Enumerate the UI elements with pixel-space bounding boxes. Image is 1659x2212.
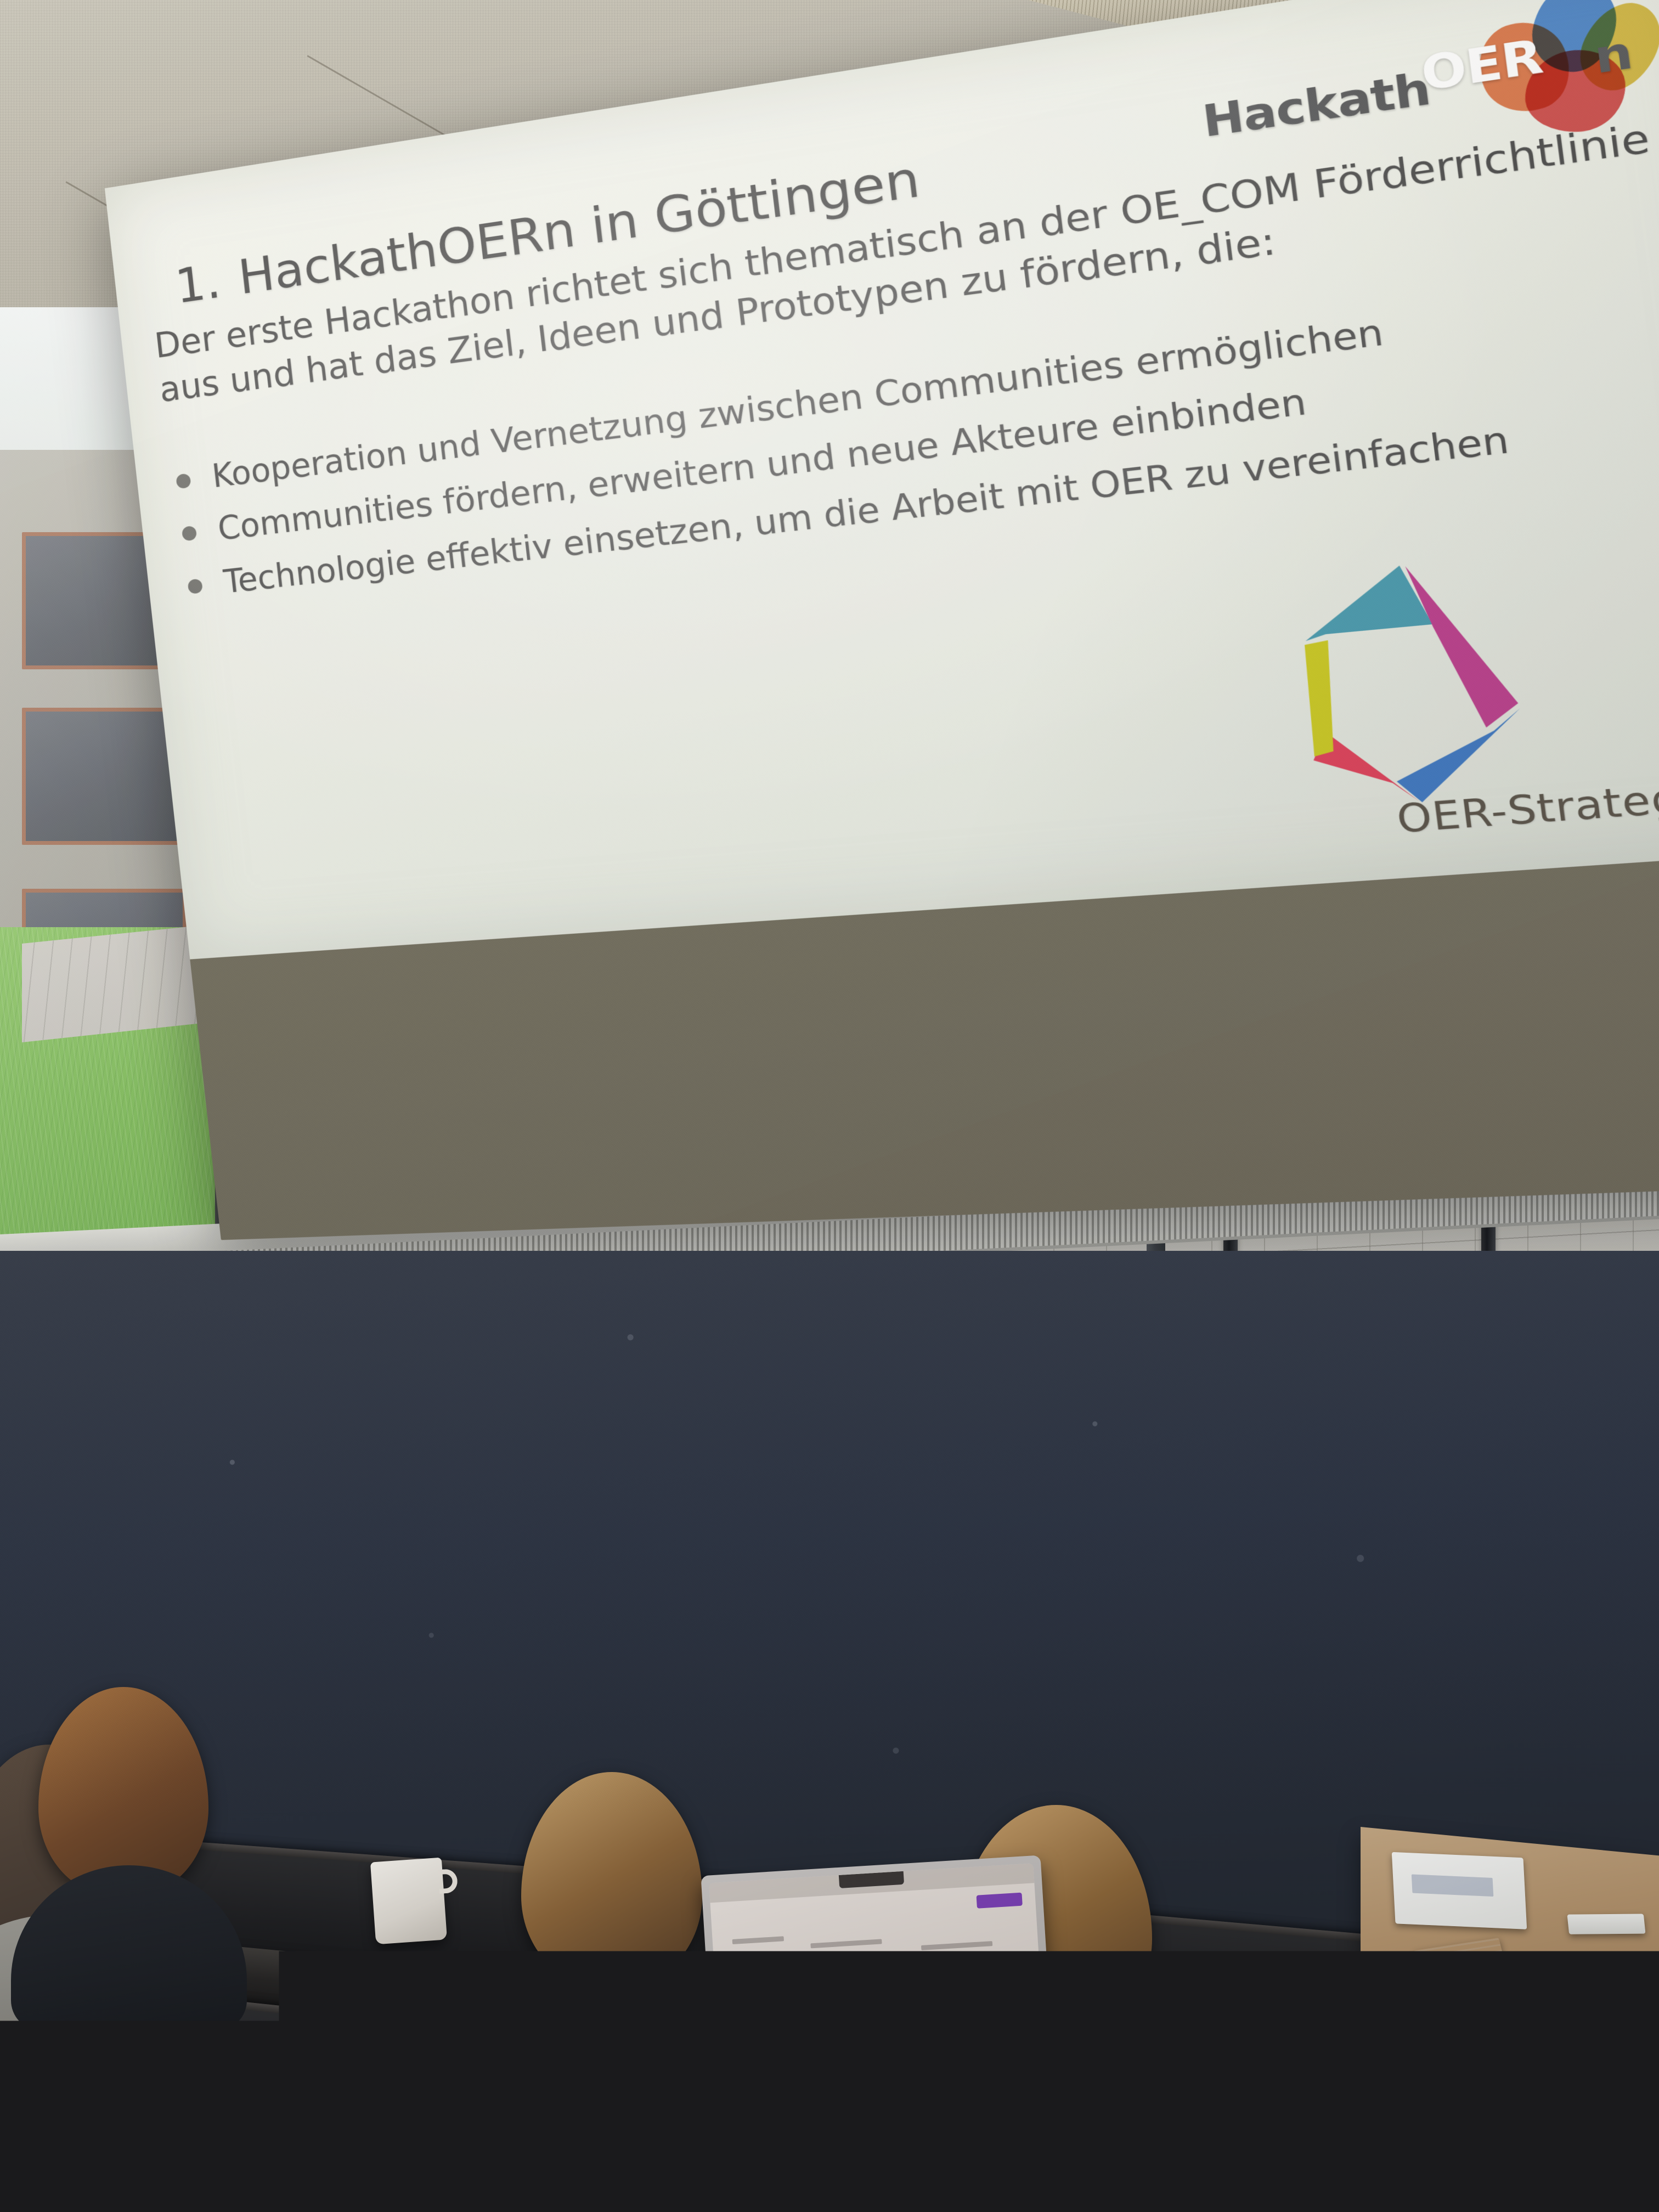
bottle-label: CLUB-MATE bbox=[1318, 2133, 1376, 2201]
logo-text-hackath: Hackath bbox=[1200, 62, 1433, 147]
photo-canvas: IDEENLABOR HackathOERn - Edition Hackath… bbox=[0, 0, 1659, 2212]
oer-strategie-mark bbox=[1286, 545, 1545, 815]
laptop-lid bbox=[701, 1855, 1054, 2111]
laptop-screen-text-line bbox=[921, 1941, 993, 1951]
slide-title-number: 1. bbox=[173, 253, 223, 314]
laptop-screen-text-line bbox=[732, 1936, 784, 1944]
bottle-cap bbox=[1331, 1966, 1362, 1994]
desk-white-device[interactable] bbox=[1567, 1914, 1646, 1934]
bottle-body: CLUB-MATE bbox=[1317, 2041, 1377, 2211]
open-laptop[interactable] bbox=[701, 1855, 1054, 2111]
logo-text-n: n bbox=[1591, 25, 1636, 84]
laptop-screen-text-line bbox=[812, 1973, 897, 1984]
lectern-leg bbox=[1393, 2008, 1402, 2212]
laptop-screen-text-line bbox=[811, 1955, 909, 1966]
touch-control-panel[interactable] bbox=[1498, 1956, 1590, 2001]
bottle-label-text: CLUB-MATE bbox=[1319, 2162, 1374, 2172]
av-remote[interactable] bbox=[1414, 1938, 1505, 1977]
wedge-yellow bbox=[1300, 640, 1342, 757]
desk-paper[interactable] bbox=[1392, 1852, 1527, 1929]
wedge-magenta bbox=[1405, 557, 1521, 732]
laptop-screen[interactable] bbox=[709, 1863, 1046, 2103]
laptop-screen-text-line bbox=[922, 1959, 981, 1968]
control-panel-screen[interactable] bbox=[1515, 1967, 1572, 1990]
oer-strategie-logo: OER-Strategie bbox=[1286, 528, 1659, 859]
laptop-screen-text-line bbox=[923, 1976, 1001, 1985]
bottle-neck-label bbox=[1336, 2000, 1358, 2014]
paper-printed-content bbox=[1411, 1874, 1493, 1896]
laptop-screen-accent-chip bbox=[977, 1893, 1023, 1909]
laptop-screen-text-line bbox=[733, 1952, 772, 1960]
laptop-screen-text-line bbox=[810, 1939, 882, 1949]
dell-logo: DELL bbox=[321, 2111, 370, 2163]
coffee-mug[interactable] bbox=[370, 1858, 447, 1945]
facade-window bbox=[22, 708, 187, 845]
wedge-teal bbox=[1297, 563, 1434, 641]
projection-screen: Hackath OER n 1.HackathOERn in Göttingen… bbox=[105, 0, 1659, 1279]
